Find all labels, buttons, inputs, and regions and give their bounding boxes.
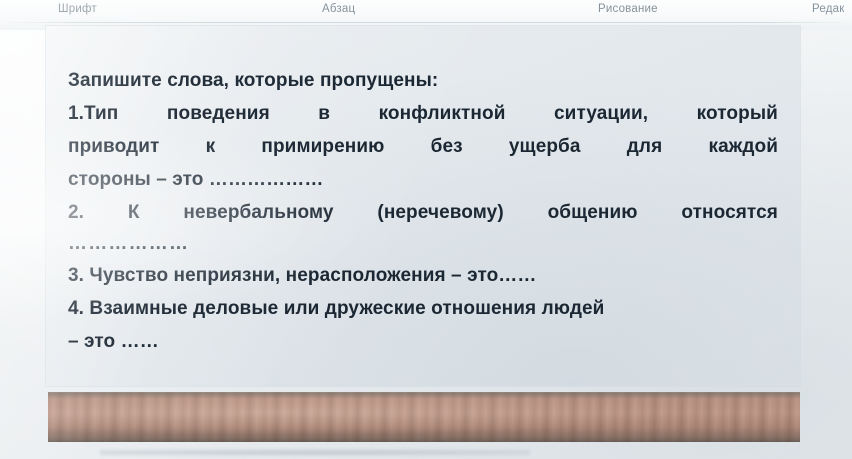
text-segment: общению: [548, 196, 638, 229]
question-4-line-2: – это ……: [68, 325, 778, 358]
question-1-line-3: стороны – это ………………: [68, 163, 778, 196]
question-2-blank-dots: ………………: [68, 229, 778, 259]
text-segment: который: [697, 97, 778, 130]
text-segment: поведения: [167, 97, 270, 130]
text-segment: невербальному: [183, 196, 333, 229]
question-2-line-1: 2. К невербальному (неречевому) общению …: [68, 196, 778, 229]
wooden-desk-band: [48, 392, 800, 442]
text-segment: для: [627, 130, 663, 163]
question-4-line-1: 4. Взаимные деловые или дружеские отноше…: [68, 292, 778, 325]
document-heading: Запишите слова, которые пропущены:: [68, 64, 778, 97]
screenshot-root: Шрифт Абзац Рисование Редак Запишите сло…: [0, 0, 852, 459]
text-segment: конфликтной: [379, 97, 506, 130]
wood-gloss: [48, 392, 800, 442]
text-segment: ситуации,: [554, 97, 648, 130]
ribbon-divider: [0, 22, 852, 23]
ribbon-group-editing-label[interactable]: Редак: [812, 3, 844, 15]
text-segment: каждой: [708, 130, 778, 163]
ribbon-group-drawing-label[interactable]: Рисование: [598, 3, 658, 15]
text-segment: к: [206, 130, 216, 163]
text-segment: относятся: [681, 196, 778, 229]
question-1-line-2: приводит к примирению без ущерба для каж…: [68, 130, 778, 163]
document-page[interactable]: Запишите слова, которые пропущены: 1.Тип…: [46, 26, 800, 386]
question-3-line-1: 3. Чувство неприязни, нерасположения – э…: [68, 259, 778, 292]
text-segment: 2.: [68, 196, 84, 229]
text-segment: примирению: [261, 130, 384, 163]
text-segment: в: [318, 97, 330, 130]
text-segment: (неречевому): [377, 196, 503, 229]
ribbon-group-font-label[interactable]: Шрифт: [58, 3, 97, 15]
text-segment: без: [431, 130, 463, 163]
text-segment: 1.Тип: [68, 97, 118, 130]
text-segment: К: [128, 196, 140, 229]
blurred-text-below-band: [100, 448, 530, 457]
text-segment: приводит: [68, 130, 159, 163]
text-segment: ущерба: [509, 130, 581, 163]
question-1-line-1: 1.Тип поведения в конфликтной ситуации, …: [68, 97, 778, 130]
ribbon-group-paragraph-label[interactable]: Абзац: [322, 3, 355, 15]
document-text-body[interactable]: Запишите слова, которые пропущены: 1.Тип…: [68, 64, 778, 358]
